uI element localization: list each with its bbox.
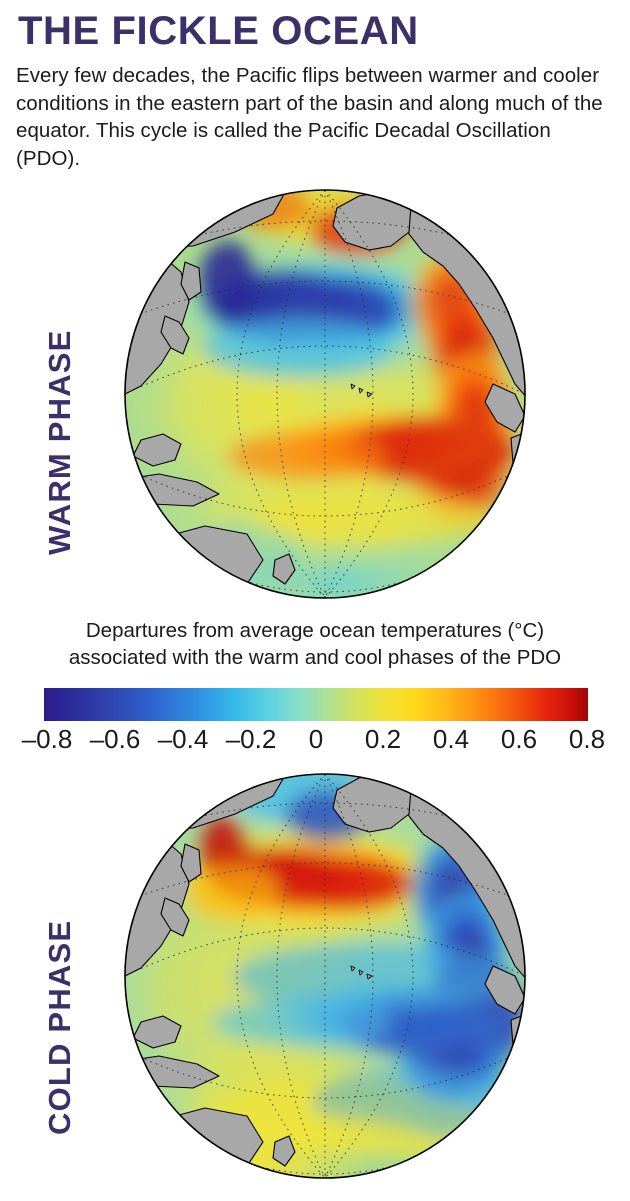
- colorbar: [44, 688, 588, 721]
- warm-phase-globe: [123, 188, 527, 600]
- page-title: THE FICKLE OCEAN: [18, 8, 618, 54]
- legend-caption: Departures from average ocean temperatur…: [15, 617, 615, 671]
- legend-caption-line1: Departures from average ocean temperatur…: [15, 617, 615, 644]
- infographic-page: THE FICKLE OCEAN Every few decades, the …: [0, 0, 630, 1201]
- colorbar-tick-7: 0.6: [501, 724, 537, 755]
- colorbar-tick-4: 0: [309, 724, 323, 755]
- legend-caption-line2: associated with the warm and cool phases…: [15, 644, 615, 671]
- warm-phase-globe-svg: [123, 188, 527, 600]
- cold-phase-label: COLD PHASE: [42, 735, 78, 1135]
- colorbar-tick-5: 0.2: [365, 724, 401, 755]
- colorbar-tick-3: –0.2: [226, 724, 277, 755]
- colorbar-tick-labels: –0.8 –0.6 –0.4 –0.2 0 0.2 0.4 0.6 0.8: [0, 724, 630, 758]
- warm-phase-label: WARM PHASE: [42, 155, 78, 555]
- colorbar-tick-2: –0.4: [158, 724, 209, 755]
- deck-paragraph: Every few decades, the Pacific flips bet…: [16, 62, 610, 172]
- cold-phase-globe: [123, 772, 527, 1180]
- cold-phase-globe-svg: [123, 772, 527, 1180]
- colorbar-tick-6: 0.4: [433, 724, 469, 755]
- colorbar-tick-1: –0.6: [90, 724, 141, 755]
- colorbar-tick-8: 0.8: [569, 724, 605, 755]
